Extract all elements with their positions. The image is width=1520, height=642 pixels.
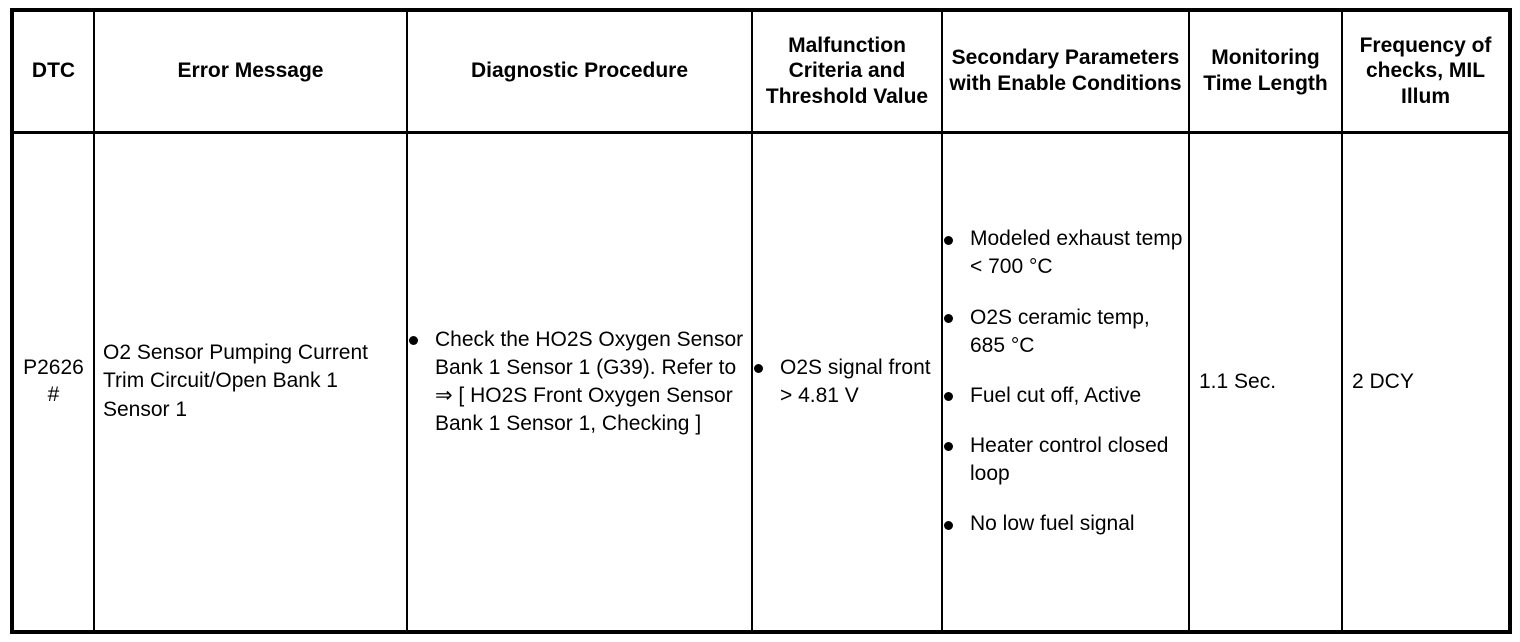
column-header-secondary-parameters: Secondary Parameters with Enable Conditi… (942, 10, 1189, 132)
cell-secondary-parameters: Modeled exhaust temp < 700 °C O2S cerami… (942, 132, 1189, 632)
cell-dtc: P2626 # (12, 132, 94, 632)
bullet-icon (944, 442, 953, 451)
column-header-frequency-of-checks: Frequency of checks, MIL Illum (1342, 10, 1510, 132)
list-item-text: Modeled exhaust temp < 700 °C (970, 227, 1182, 278)
header-row: DTC Error Message Diagnostic Procedure M… (12, 10, 1510, 132)
column-header-diagnostic-procedure: Diagnostic Procedure (407, 10, 752, 132)
frequency-of-checks-value: 2 DCY (1343, 368, 1508, 396)
malfunction-criteria-list: O2S signal front > 4.81 V (753, 354, 941, 410)
list-item-text: Heater control closed loop (970, 434, 1168, 485)
list-item-text: Fuel cut off, Active (970, 384, 1141, 407)
cell-error-message: O2 Sensor Pumping Current Trim Circuit/O… (94, 132, 407, 632)
list-item: O2S ceramic temp, 685 °C (943, 304, 1188, 360)
cell-monitoring-time-length: 1.1 Sec. (1189, 132, 1342, 632)
list-item-text: Check the HO2S Oxygen Sensor Bank 1 Sens… (435, 328, 743, 435)
table-body: P2626 # O2 Sensor Pumping Current Trim C… (12, 132, 1510, 632)
bullet-icon (944, 236, 953, 245)
bullet-icon (944, 314, 953, 323)
table-row: P2626 # O2 Sensor Pumping Current Trim C… (12, 132, 1510, 632)
error-message-text: O2 Sensor Pumping Current Trim Circuit/O… (95, 339, 406, 425)
monitoring-time-value: 1.1 Sec. (1190, 368, 1341, 396)
secondary-parameters-list: Modeled exhaust temp < 700 °C O2S cerami… (943, 225, 1188, 538)
table-header: DTC Error Message Diagnostic Procedure M… (12, 10, 1510, 132)
list-item-text: No low fuel signal (970, 512, 1135, 535)
cell-frequency-of-checks: 2 DCY (1342, 132, 1510, 632)
column-header-dtc: DTC (12, 10, 94, 132)
column-header-monitoring-time: Monitoring Time Length (1189, 10, 1342, 132)
list-item-text: O2S ceramic temp, 685 °C (970, 306, 1150, 357)
bullet-icon (944, 521, 953, 530)
bullet-icon (754, 364, 763, 373)
list-item: O2S signal front > 4.81 V (753, 354, 941, 410)
list-item: No low fuel signal (943, 510, 1188, 538)
bullet-icon (944, 392, 953, 401)
column-header-malfunction-criteria: Malfunction Criteria and Threshold Value (752, 10, 942, 132)
bullet-icon (409, 336, 418, 345)
column-header-error-message: Error Message (94, 10, 407, 132)
list-item: Heater control closed loop (943, 432, 1188, 488)
list-item: Modeled exhaust temp < 700 °C (943, 225, 1188, 281)
dtc-diagnostics-table: DTC Error Message Diagnostic Procedure M… (10, 8, 1512, 634)
document-page: DTC Error Message Diagnostic Procedure M… (0, 0, 1520, 642)
list-item-text: O2S signal front > 4.81 V (780, 356, 931, 407)
cell-diagnostic-procedure: Check the HO2S Oxygen Sensor Bank 1 Sens… (407, 132, 752, 632)
dtc-code: P2626 # (14, 355, 93, 409)
diagnostic-procedure-list: Check the HO2S Oxygen Sensor Bank 1 Sens… (408, 326, 751, 439)
cell-malfunction-criteria: O2S signal front > 4.81 V (752, 132, 942, 632)
list-item: Fuel cut off, Active (943, 382, 1188, 410)
list-item: Check the HO2S Oxygen Sensor Bank 1 Sens… (408, 326, 751, 439)
